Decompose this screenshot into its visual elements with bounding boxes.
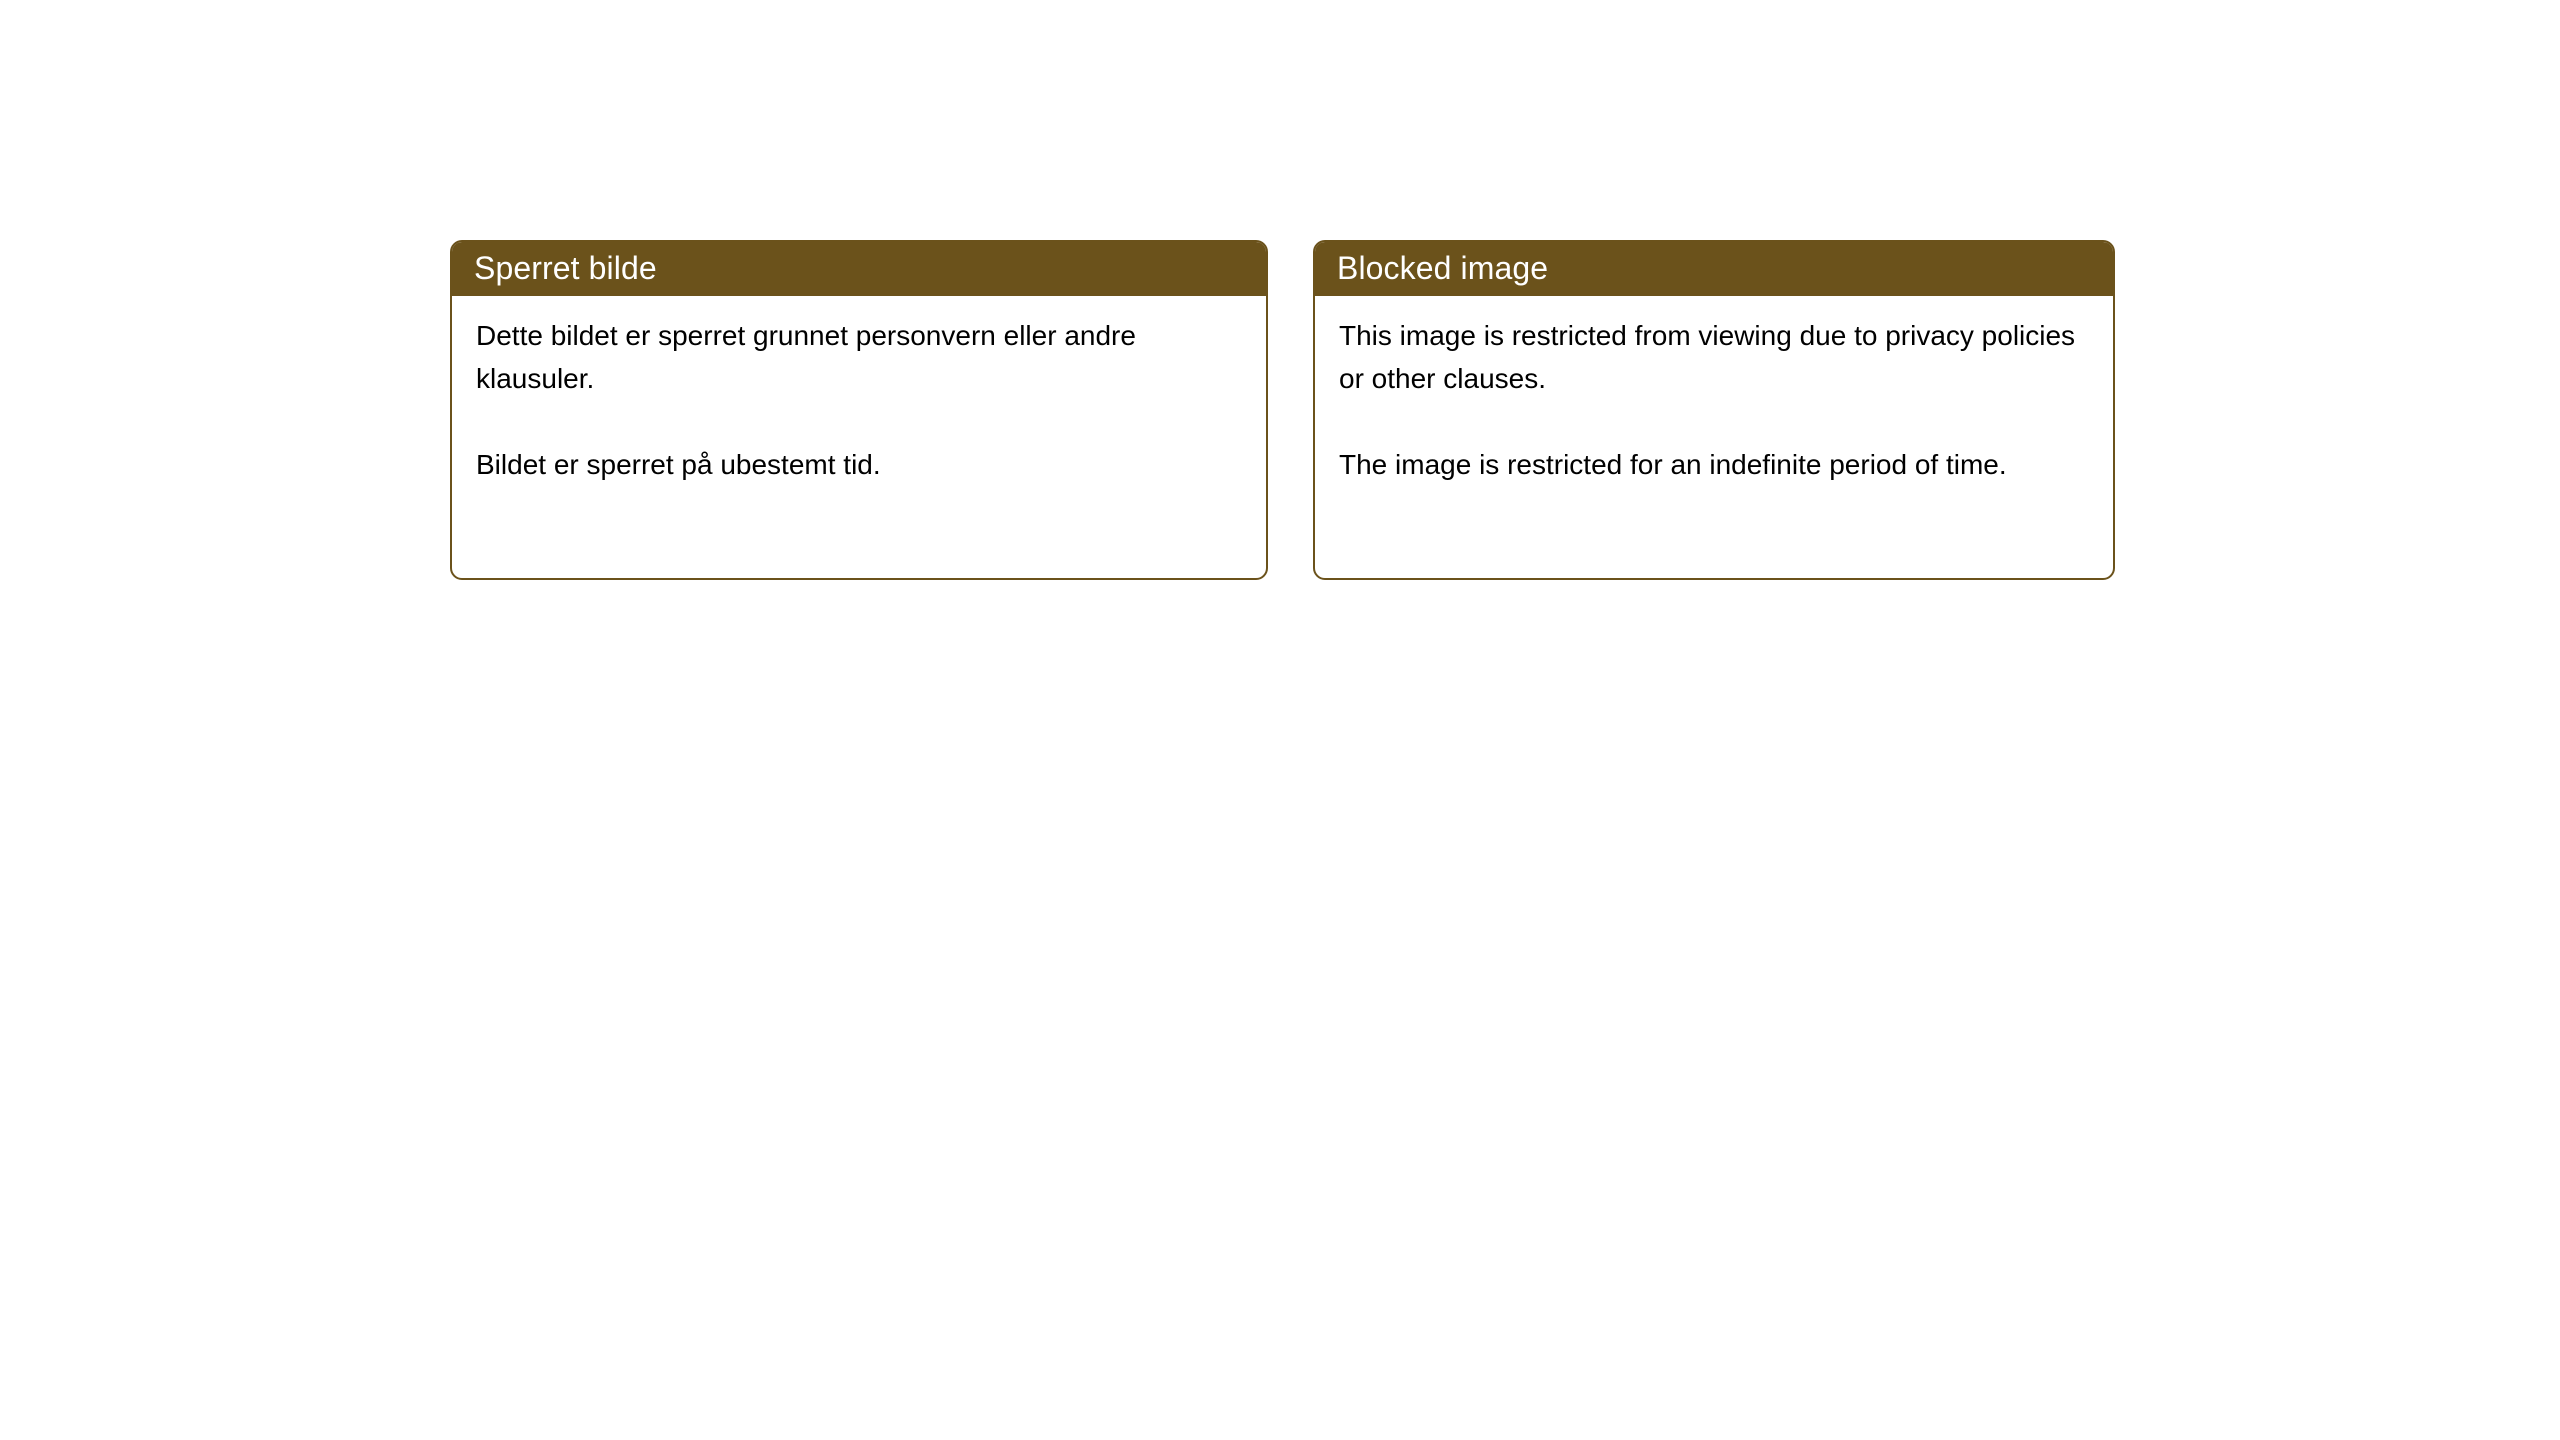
page-root: Sperret bilde Dette bildet er sperret gr… xyxy=(0,0,2560,1440)
card-body-english: This image is restricted from viewing du… xyxy=(1315,296,2113,486)
notice-paragraph: The image is restricted for an indefinit… xyxy=(1339,443,2089,486)
card-title-norwegian: Sperret bilde xyxy=(474,250,657,286)
notice-paragraph: Bildet er sperret på ubestemt tid. xyxy=(476,443,1242,486)
blocked-image-notice-card-norwegian: Sperret bilde Dette bildet er sperret gr… xyxy=(450,240,1268,580)
card-header-english: Blocked image xyxy=(1313,240,2115,296)
notice-paragraph: Dette bildet er sperret grunnet personve… xyxy=(476,314,1242,400)
notice-paragraph: This image is restricted from viewing du… xyxy=(1339,314,2089,400)
card-header-norwegian: Sperret bilde xyxy=(450,240,1268,296)
card-title-english: Blocked image xyxy=(1337,250,1548,286)
card-body-norwegian: Dette bildet er sperret grunnet personve… xyxy=(452,296,1266,486)
blocked-image-notice-card-english: Blocked image This image is restricted f… xyxy=(1313,240,2115,580)
